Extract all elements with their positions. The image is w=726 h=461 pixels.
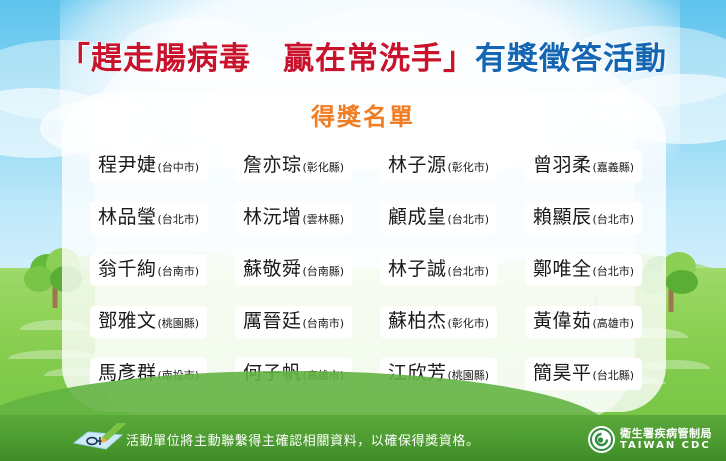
winner-chip: 林沅增(雲林縣) <box>236 203 351 233</box>
winner-chip: 蘇敬舜(台南縣) <box>236 255 351 285</box>
winner-location: (嘉義縣) <box>592 162 634 173</box>
winner-name: 林子誠 <box>388 260 447 279</box>
winner-chip: 顧成皇(台北市) <box>381 203 496 233</box>
list-item: 曾羽柔(嘉義縣) <box>511 140 656 192</box>
list-item: 林子源(彰化市) <box>366 140 511 192</box>
list-item: 蘇敬舜(台南縣) <box>221 244 366 296</box>
promotion-poster: 「趕走腸病毒 贏在常洗手」有獎徵答活動 得獎名單 程尹婕(台中市) 詹亦琮(彰化… <box>0 0 726 461</box>
winner-location: (彰化縣) <box>302 162 344 173</box>
list-item: 黃偉茹(高雄市) <box>511 296 656 348</box>
winner-chip: 詹亦琮(彰化縣) <box>236 151 351 181</box>
winner-location: (高雄市) <box>592 318 634 329</box>
winner-chip: 蘇柏杰(彰化市) <box>381 307 496 337</box>
page-title: 「趕走腸病毒 贏在常洗手」有獎徵答活動 <box>0 33 726 78</box>
winner-name: 簡昊平 <box>533 364 592 383</box>
winner-name: 鄭唯全 <box>533 260 592 279</box>
page-title-red: 「趕走腸病毒 贏在常洗手」 <box>59 41 475 77</box>
winner-chip: 賴顯辰(台北市) <box>526 203 641 233</box>
list-item: 詹亦琮(彰化縣) <box>221 140 366 192</box>
page-title-blue: 有獎徵答活動 <box>475 41 667 77</box>
winner-location: (台南縣) <box>302 266 344 277</box>
winner-location: (台中市) <box>157 162 199 173</box>
winner-chip: 林品瑩(台北市) <box>91 203 206 233</box>
list-item: 林品瑩(台北市) <box>76 192 221 244</box>
cdc-logo-name-cn: 衛生署疾病管制局 <box>620 428 712 440</box>
list-item: 林子誠(台北市) <box>366 244 511 296</box>
list-item: 林沅增(雲林縣) <box>221 192 366 244</box>
winner-chip: 曾羽柔(嘉義縣) <box>526 151 641 181</box>
page-subtitle: 得獎名單 <box>0 97 726 132</box>
list-item: 鄧雅文(桃園縣) <box>76 296 221 348</box>
winner-location: (桃園縣) <box>157 318 199 329</box>
winner-name: 黃偉茹 <box>533 312 592 331</box>
winner-location: (台南市) <box>302 318 344 329</box>
winner-name: 賴顯辰 <box>533 208 592 227</box>
winner-chip: 程尹婕(台中市) <box>91 151 206 181</box>
cdc-logo-mark-icon <box>588 426 615 453</box>
winner-chip: 林子源(彰化市) <box>381 151 496 181</box>
winner-location: (雲林縣) <box>302 214 344 225</box>
winner-list: 程尹婕(台中市) 詹亦琮(彰化縣) 林子源(彰化市) 曾羽柔(嘉義縣) 林品瑩(… <box>76 140 656 400</box>
winner-location: (台北市) <box>447 214 489 225</box>
list-item: 鄭唯全(台北市) <box>511 244 656 296</box>
winner-name: 鄧雅文 <box>98 312 157 331</box>
winner-chip: 簡昊平(台北縣) <box>526 359 641 389</box>
winner-chip: 翁千絢(台南市) <box>91 255 206 285</box>
list-item: 厲晉廷(台南市) <box>221 296 366 348</box>
winner-location: (台北市) <box>592 214 634 225</box>
winner-name: 林品瑩 <box>98 208 157 227</box>
list-item: 程尹婕(台中市) <box>76 140 221 192</box>
winner-chip: 林子誠(台北市) <box>381 255 496 285</box>
winner-chip: 黃偉茹(高雄市) <box>526 307 641 337</box>
winner-name: 厲晉廷 <box>243 312 302 331</box>
winner-name: 顧成皇 <box>388 208 447 227</box>
list-item: 賴顯辰(台北市) <box>511 192 656 244</box>
list-item: 翁千絢(台南市) <box>76 244 221 296</box>
list-item: 蘇柏杰(彰化市) <box>366 296 511 348</box>
list-item: 顧成皇(台北市) <box>366 192 511 244</box>
cdc-logo-text: 衛生署疾病管制局 TAIWAN CDC <box>620 428 712 451</box>
winner-location: (台北市) <box>592 266 634 277</box>
footer-note: 活動單位將主動聯繫得主確認相關資料，以確保得獎資格。 <box>126 430 480 449</box>
winner-location: (台南市) <box>157 266 199 277</box>
winner-location: (彰化市) <box>447 318 489 329</box>
winner-location: (台北縣) <box>592 370 634 381</box>
winner-name: 程尹婕 <box>98 156 157 175</box>
footer-bar: 活動單位將主動聯繫得主確認相關資料，以確保得獎資格。 衛生署疾病管制局 TAIW… <box>0 415 726 461</box>
winner-name: 翁千絢 <box>98 260 157 279</box>
winner-location: (台北市) <box>157 214 199 225</box>
winner-name: 曾羽柔 <box>533 156 592 175</box>
winner-name: 林沅增 <box>243 208 302 227</box>
cdc-logo: 衛生署疾病管制局 TAIWAN CDC <box>588 426 712 453</box>
form-pencil-icon <box>72 423 128 453</box>
winner-location: (彰化市) <box>447 162 489 173</box>
winner-chip: 鄭唯全(台北市) <box>526 255 641 285</box>
winner-chip: 厲晉廷(台南市) <box>236 307 351 337</box>
winner-name: 詹亦琮 <box>243 156 302 175</box>
winner-name: 林子源 <box>388 156 447 175</box>
winner-name: 蘇柏杰 <box>388 312 447 331</box>
winner-name: 蘇敬舜 <box>243 260 302 279</box>
winner-location: (台北市) <box>447 266 489 277</box>
winner-chip: 鄧雅文(桃園縣) <box>91 307 206 337</box>
cdc-logo-name-en: TAIWAN CDC <box>620 440 712 451</box>
